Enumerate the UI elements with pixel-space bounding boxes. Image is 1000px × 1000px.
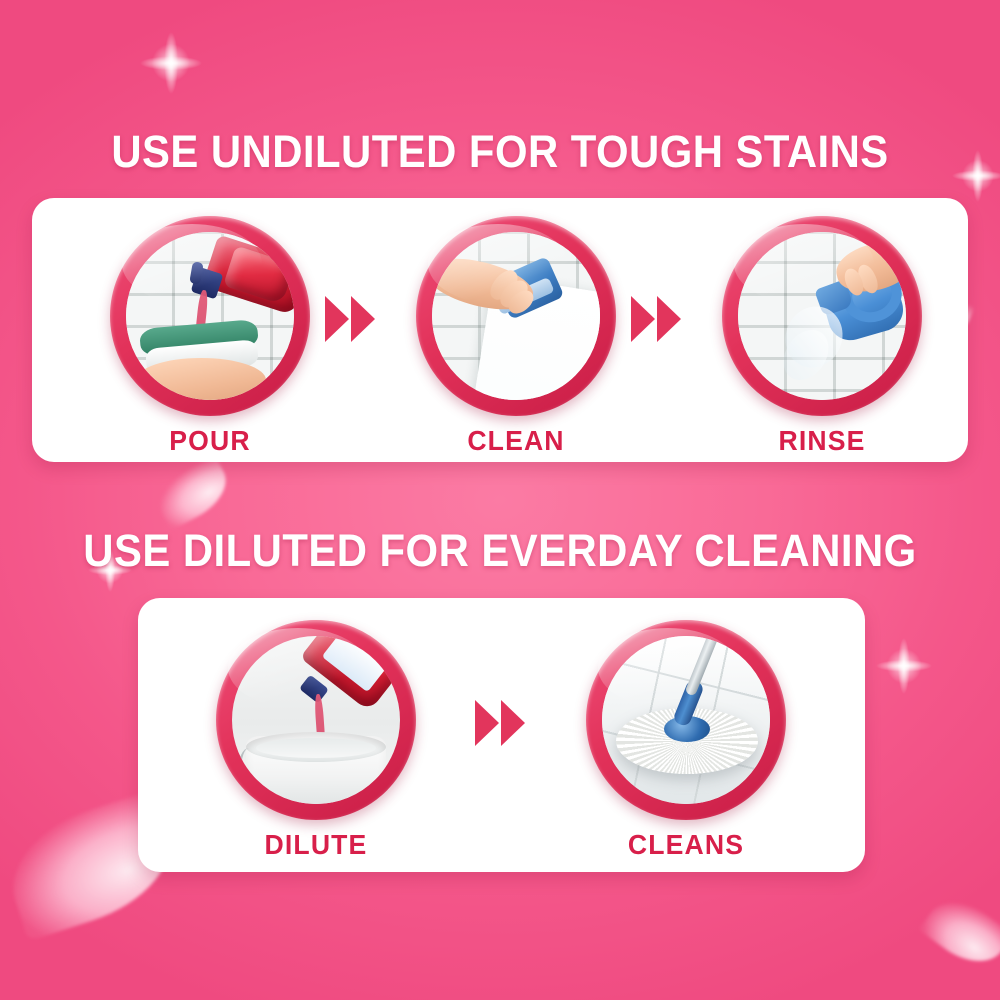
double-chevron-right-icon xyxy=(325,296,375,342)
step-label-rinse: RINSE xyxy=(727,425,917,457)
step-clean: CLEAN xyxy=(416,216,616,457)
double-chevron-right-icon xyxy=(631,296,681,342)
section-heading-undiluted: USE UNDILUTED FOR TOUGH STAINS xyxy=(35,126,965,178)
step-photo-ring xyxy=(216,620,416,820)
step-photo-ring xyxy=(586,620,786,820)
section-heading-diluted: USE DILUTED FOR EVERDAY CLEANING xyxy=(35,525,965,577)
scene-pour xyxy=(126,232,294,400)
steps-card-undiluted: POUR xyxy=(32,198,968,462)
product-infographic-poster: USE UNDILUTED FOR TOUGH STAINS xyxy=(0,0,1000,1000)
step-cleans: CLEANS xyxy=(586,620,786,861)
scene-dilute xyxy=(232,636,400,804)
petal-icon xyxy=(150,455,237,530)
scene-clean xyxy=(432,232,600,400)
double-chevron-right-icon xyxy=(475,700,525,746)
scene-rinse xyxy=(738,232,906,400)
scene-cleans xyxy=(602,636,770,804)
step-label-cleans: CLEANS xyxy=(591,829,781,861)
step-photo-ring xyxy=(110,216,310,416)
step-label-clean: CLEAN xyxy=(421,425,611,457)
sparkle-icon xyxy=(876,638,932,694)
petal-icon xyxy=(918,887,1000,976)
sparkle-icon xyxy=(140,32,202,94)
steps-card-diluted: DILUTE CLEANS xyxy=(138,598,865,872)
hand-icon xyxy=(136,358,266,400)
step-label-dilute: DILUTE xyxy=(221,829,411,861)
step-dilute: DILUTE xyxy=(216,620,416,861)
step-pour: POUR xyxy=(110,216,310,457)
step-label-pour: POUR xyxy=(115,425,305,457)
step-rinse: RINSE xyxy=(722,216,922,457)
step-photo-ring xyxy=(722,216,922,416)
step-photo-ring xyxy=(416,216,616,416)
